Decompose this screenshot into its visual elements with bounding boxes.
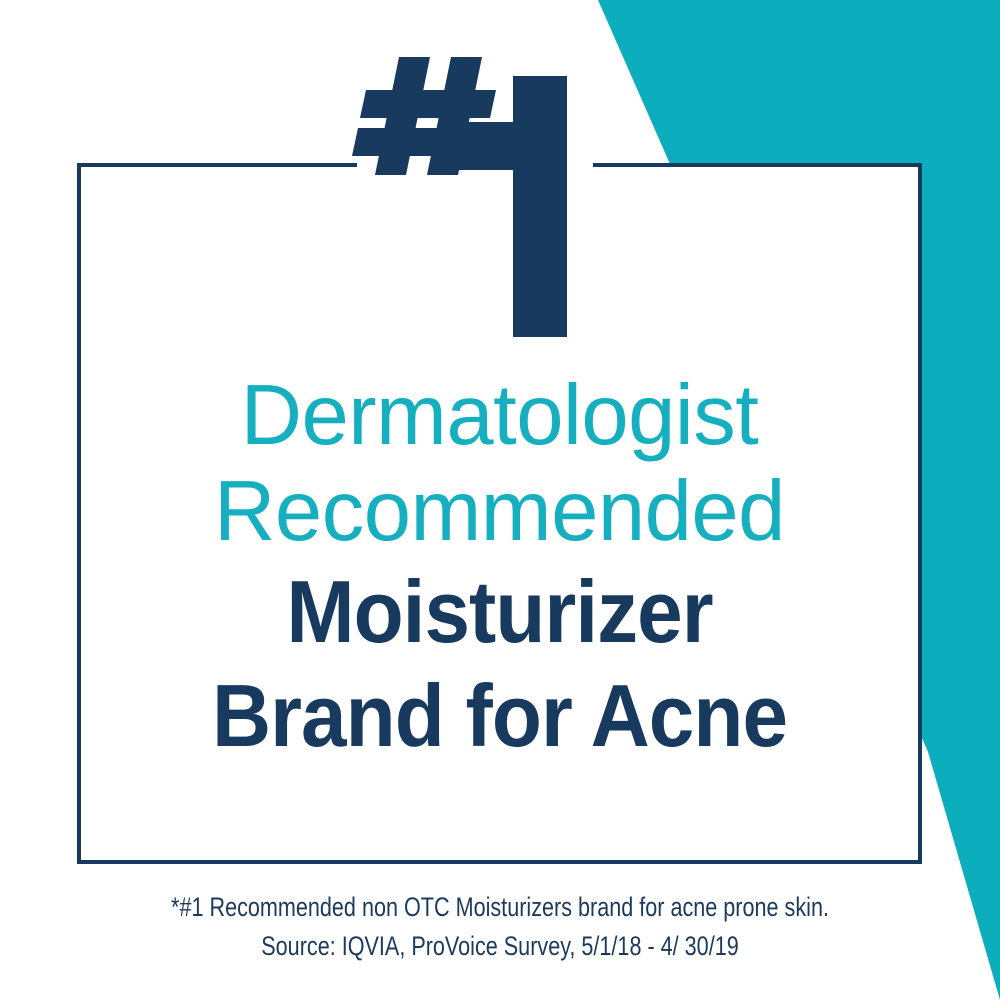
footnote-claim-line: *#1 Recommended non OTC Moisturizers bra…	[100, 888, 900, 927]
card-border-bottom	[77, 860, 922, 864]
headline-line-3: Moisturizer	[107, 560, 893, 664]
headline-line-1: Dermatologist	[77, 368, 922, 464]
footnote-block: *#1 Recommended non OTC Moisturizers bra…	[0, 888, 1000, 966]
headline-line-2: Recommended	[77, 464, 922, 560]
headline-line-4: Brand for Acne	[107, 664, 893, 768]
card-border-top-right	[593, 163, 922, 167]
card-border-top-left	[77, 163, 357, 167]
headline-block: Dermatologist Recommended Moisturizer Br…	[77, 368, 922, 768]
footnote-source-line: Source: IQVIA, ProVoice Survey, 5/1/18 -…	[100, 927, 900, 966]
promo-graphic: Dermatologist Recommended Moisturizer Br…	[0, 0, 1000, 1000]
